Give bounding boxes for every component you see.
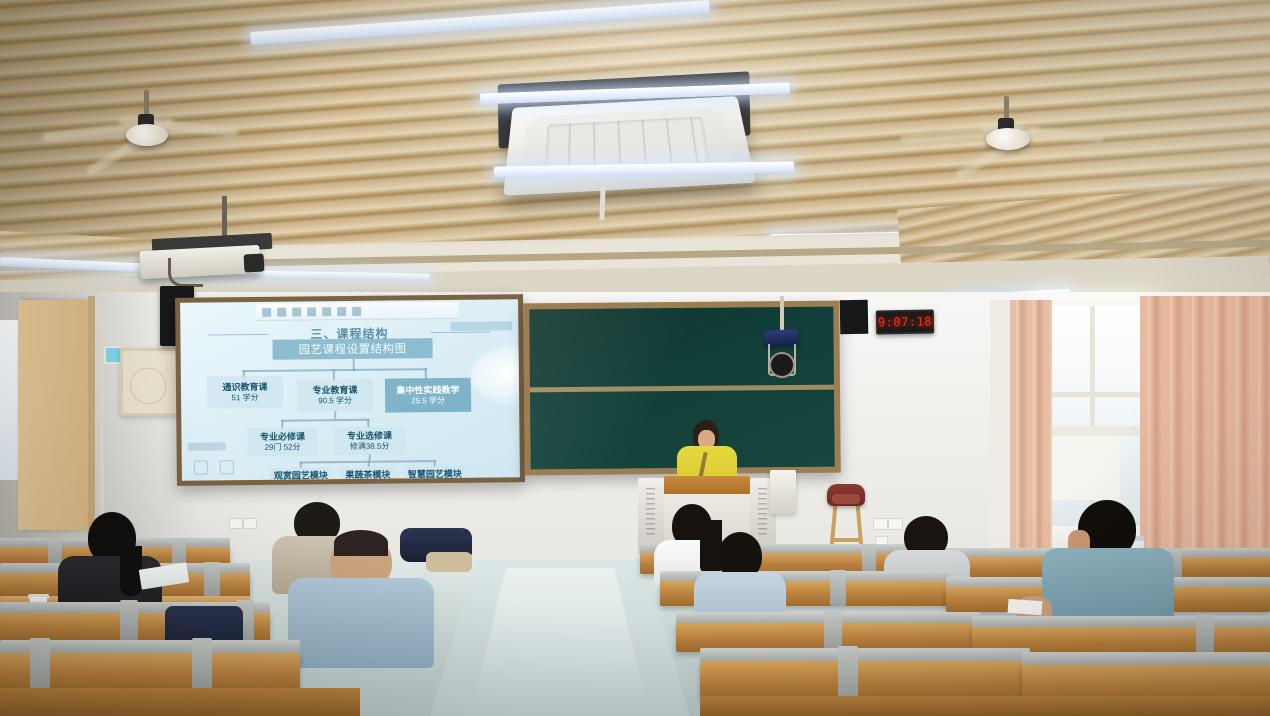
slide-box-general-education: 通识教育课 51 学分 bbox=[207, 376, 283, 409]
projected-slide[interactable]: 三、课程结构 园艺课程设置结构图 通识教育课 51 学分 专业教育课 90.5 … bbox=[180, 299, 520, 481]
stool-cushion bbox=[832, 494, 860, 504]
connector-horizontal bbox=[281, 419, 369, 422]
bottle-cap bbox=[1135, 536, 1144, 541]
projection-screen-frame: 三、课程结构 园艺课程设置结构图 通识教育课 51 学分 专业教育课 90.5 … bbox=[175, 294, 525, 486]
toolbar-icon bbox=[277, 307, 286, 316]
wall-speaker-right bbox=[770, 470, 796, 514]
window-sill bbox=[1036, 426, 1154, 436]
clock-time-text: 9:07:18 bbox=[878, 315, 932, 330]
wall-socket[interactable] bbox=[888, 518, 903, 530]
slide-box-major-education: 专业教育课 90.5 学分 bbox=[297, 379, 373, 412]
slide-box-module-smart-horticulture: 智慧园艺模块 bbox=[404, 466, 466, 481]
slide-box-elective-courses: 专业选修课 修满38.5分 bbox=[333, 426, 405, 455]
screen-glare bbox=[471, 345, 520, 408]
toolbar-icon bbox=[337, 307, 346, 316]
slide-box-module-ornamental: 观赏园艺模块 bbox=[270, 467, 332, 481]
box-credits: 51 学分 bbox=[231, 393, 258, 404]
stool-rung bbox=[830, 538, 862, 542]
box-credits: 90.5 学分 bbox=[318, 396, 352, 407]
box-label: 观赏园艺模块 bbox=[274, 469, 328, 481]
wall-socket[interactable] bbox=[873, 518, 888, 530]
wall-conduit bbox=[100, 300, 104, 530]
slide-box-module-fruit-veg-tea: 果蔬茶模块 bbox=[340, 467, 396, 481]
clock-housing bbox=[840, 300, 869, 334]
left-window-strip bbox=[0, 320, 18, 480]
connector-vertical bbox=[334, 411, 336, 419]
speaker-grille bbox=[758, 488, 767, 536]
digital-wall-clock: 9:07:18 bbox=[876, 309, 934, 334]
box-label: 集中性实践教学 bbox=[396, 383, 459, 396]
paper-sheet[interactable] bbox=[1008, 599, 1043, 615]
box-label: 专业必修课 bbox=[260, 430, 305, 443]
bench-front-edge bbox=[0, 688, 360, 716]
slide-control-icon[interactable] bbox=[194, 460, 208, 474]
window-lower-panel bbox=[1040, 430, 1120, 500]
door-frame bbox=[88, 296, 95, 532]
box-label: 专业选修课 bbox=[347, 429, 392, 442]
projector-cable bbox=[168, 258, 203, 287]
slide-box-required-courses: 专业必修课 29门 52分 bbox=[247, 427, 317, 456]
slide-control-icon[interactable] bbox=[220, 460, 234, 474]
toolbar-icon bbox=[292, 307, 301, 316]
wall-socket[interactable] bbox=[229, 518, 243, 529]
projector-mount-rod bbox=[222, 196, 227, 240]
toolbar-icon bbox=[262, 307, 271, 316]
box-credits: 修满38.5分 bbox=[350, 441, 390, 452]
window-mullion bbox=[1040, 392, 1150, 397]
poster-artwork bbox=[130, 368, 166, 404]
powerpoint-toolbar bbox=[256, 302, 458, 321]
wall-socket[interactable] bbox=[243, 518, 257, 529]
connector-vertical bbox=[367, 419, 369, 427]
slide-box-practical-teaching: 集中性实践教学 25.5 学分 bbox=[385, 378, 471, 413]
slide-title: 园艺课程设置结构图 bbox=[272, 338, 432, 360]
box-credits: 25.5 学分 bbox=[411, 396, 445, 407]
slide-watermark bbox=[188, 442, 226, 450]
camera-mount-pole bbox=[780, 296, 784, 330]
bench-front-edge-right bbox=[700, 696, 1270, 716]
box-credits: 29门 52分 bbox=[265, 442, 301, 453]
toolbar-icon bbox=[307, 307, 316, 316]
handbag-beige[interactable] bbox=[426, 552, 472, 572]
toolbar-icon bbox=[322, 307, 331, 316]
camera-lens bbox=[769, 352, 795, 378]
box-label: 果蔬茶模块 bbox=[345, 469, 390, 481]
lecture-hall-photo: 三、课程结构 园艺课程设置结构图 通识教育课 51 学分 专业教育课 90.5 … bbox=[0, 0, 1270, 716]
speaker-grille bbox=[646, 488, 655, 536]
box-label: 智慧园艺模块 bbox=[408, 468, 462, 481]
classroom-door[interactable] bbox=[18, 300, 88, 530]
toolbar-icon bbox=[352, 306, 361, 315]
connector-vertical bbox=[281, 420, 283, 428]
box-label: 专业教育课 bbox=[312, 383, 357, 396]
projector-lens bbox=[244, 253, 265, 272]
box-label: 通识教育课 bbox=[222, 380, 267, 393]
curtain-left-panel[interactable] bbox=[1010, 300, 1052, 550]
